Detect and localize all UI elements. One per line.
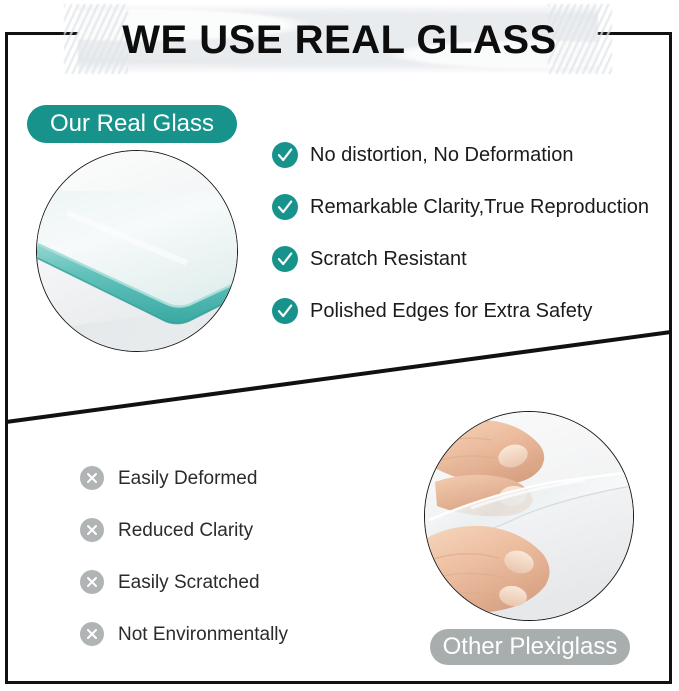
list-item: Easily Scratched: [80, 556, 400, 608]
real-glass-corner-photo: [36, 150, 238, 352]
list-item: Scratch Resistant: [272, 233, 672, 285]
check-circle-icon: [272, 298, 298, 324]
check-circle-icon: [272, 246, 298, 272]
x-circle-icon: [80, 570, 104, 594]
plexiglass-bending-photo: [424, 411, 634, 621]
check-circle-icon: [272, 142, 298, 168]
advantages-list: No distortion, No Deformation Remarkable…: [272, 129, 672, 337]
list-item-label: Reduced Clarity: [118, 521, 253, 540]
list-item-label: Polished Edges for Extra Safety: [310, 301, 592, 321]
check-circle-icon: [272, 194, 298, 220]
list-item: Reduced Clarity: [80, 504, 400, 556]
list-item: No distortion, No Deformation: [272, 129, 672, 181]
list-item: Not Environmentally: [80, 608, 400, 660]
x-circle-icon: [80, 466, 104, 490]
other-plexiglass-label-text: Other Plexiglass: [443, 633, 618, 661]
disadvantages-list: Easily Deformed Reduced Clarity Easily S…: [80, 452, 400, 660]
list-item-label: Not Environmentally: [118, 625, 288, 644]
list-item: Easily Deformed: [80, 452, 400, 504]
page-title: WE USE REAL GLASS: [122, 20, 556, 60]
list-item-label: Easily Scratched: [118, 573, 260, 592]
our-real-glass-label-text: Our Real Glass: [50, 110, 214, 138]
list-item-label: Remarkable Clarity,True Reproduction: [310, 197, 649, 217]
our-real-glass-label: Our Real Glass: [27, 105, 237, 143]
x-circle-icon: [80, 518, 104, 542]
page-title-banner: WE USE REAL GLASS: [0, 4, 679, 76]
infographic-canvas: WE USE REAL GLASS Our Real Glass: [0, 0, 679, 691]
other-plexiglass-label: Other Plexiglass: [430, 629, 630, 665]
list-item-label: Scratch Resistant: [310, 249, 467, 269]
list-item: Remarkable Clarity,True Reproduction: [272, 181, 672, 233]
list-item-label: Easily Deformed: [118, 469, 257, 488]
list-item: Polished Edges for Extra Safety: [272, 285, 672, 337]
list-item-label: No distortion, No Deformation: [310, 145, 573, 165]
x-circle-icon: [80, 622, 104, 646]
